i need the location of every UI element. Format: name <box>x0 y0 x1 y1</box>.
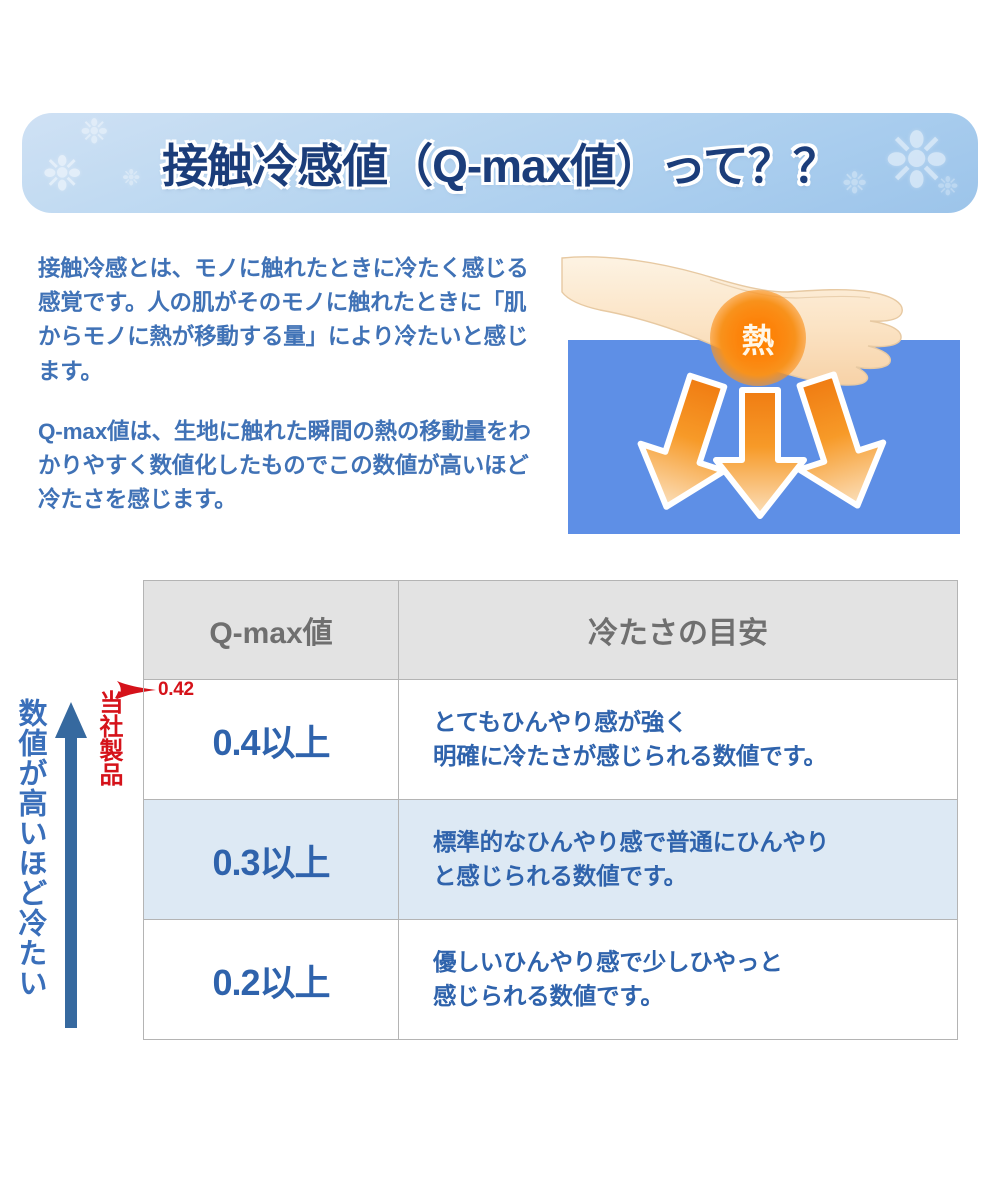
page-title: 接触冷感値（Q-max値）って？？ <box>22 130 978 196</box>
row-description-line: 明確に冷たさが感じられる数値です。 <box>433 740 957 773</box>
table-row: 0.2以上 優しいひんやり感で少しひやっと 感じられる数値です。 <box>144 920 958 1040</box>
row-description-line: とてもひんやり感が強く <box>433 706 957 739</box>
table-header-qmax: Q-max値 <box>144 581 399 680</box>
heat-transfer-arrows <box>560 248 960 540</box>
arrow-down-center-icon <box>716 390 804 516</box>
table-header-row: Q-max値 冷たさの目安 <box>144 581 958 680</box>
row-description: とてもひんやり感が強く 明確に冷たさが感じられる数値です。 <box>399 680 958 800</box>
row-description-line: と感じられる数値です。 <box>433 860 957 893</box>
heat-transfer-illustration: 熱 <box>560 248 960 540</box>
coldness-axis-label: 数値が高いほど冷たい <box>2 698 44 998</box>
row-value: 0.3以上 <box>144 800 399 920</box>
table-row: 0.4以上 とてもひんやり感が強く 明確に冷たさが感じられる数値です。 <box>144 680 958 800</box>
arrow-down-left-icon <box>625 368 749 521</box>
row-description: 優しいひんやり感で少しひやっと 感じられる数値です。 <box>399 920 958 1040</box>
intro-text-block: 接触冷感とは、モノに触れたときに冷たく感じる感覚です。人の肌がそのモノに触れたと… <box>38 252 538 517</box>
arrow-up-icon <box>54 700 88 1030</box>
table-header-coldness: 冷たさの目安 <box>399 581 958 680</box>
qmax-reference-table: Q-max値 冷たさの目安 0.4以上 とてもひんやり感が強く 明確に冷たさが感… <box>143 580 958 1040</box>
row-description-line: 優しいひんやり感で少しひやっと <box>433 946 957 979</box>
intro-paragraph-2: Q-max値は、生地に触れた瞬間の熱の移動量をわかりやすく数値化したものでこの数… <box>38 415 538 518</box>
row-value: 0.4以上 <box>144 680 399 800</box>
arrow-down-right-icon <box>775 366 899 519</box>
row-description-line: 標準的なひんやり感で普通にひんやり <box>433 826 957 859</box>
row-description: 標準的なひんやり感で普通にひんやり と感じられる数値です。 <box>399 800 958 920</box>
row-value: 0.2以上 <box>144 920 399 1040</box>
table-row: 0.3以上 標準的なひんやり感で普通にひんやり と感じられる数値です。 <box>144 800 958 920</box>
intro-paragraph-1: 接触冷感とは、モノに触れたときに冷たく感じる感覚です。人の肌がそのモノに触れたと… <box>38 252 538 389</box>
header-banner: ❉ ❉ ❉ ❉ ❉ ❉ 接触冷感値（Q-max値）って？？ <box>22 113 978 213</box>
our-product-label: 当社製品 <box>88 690 120 786</box>
row-description-line: 感じられる数値です。 <box>433 980 957 1013</box>
